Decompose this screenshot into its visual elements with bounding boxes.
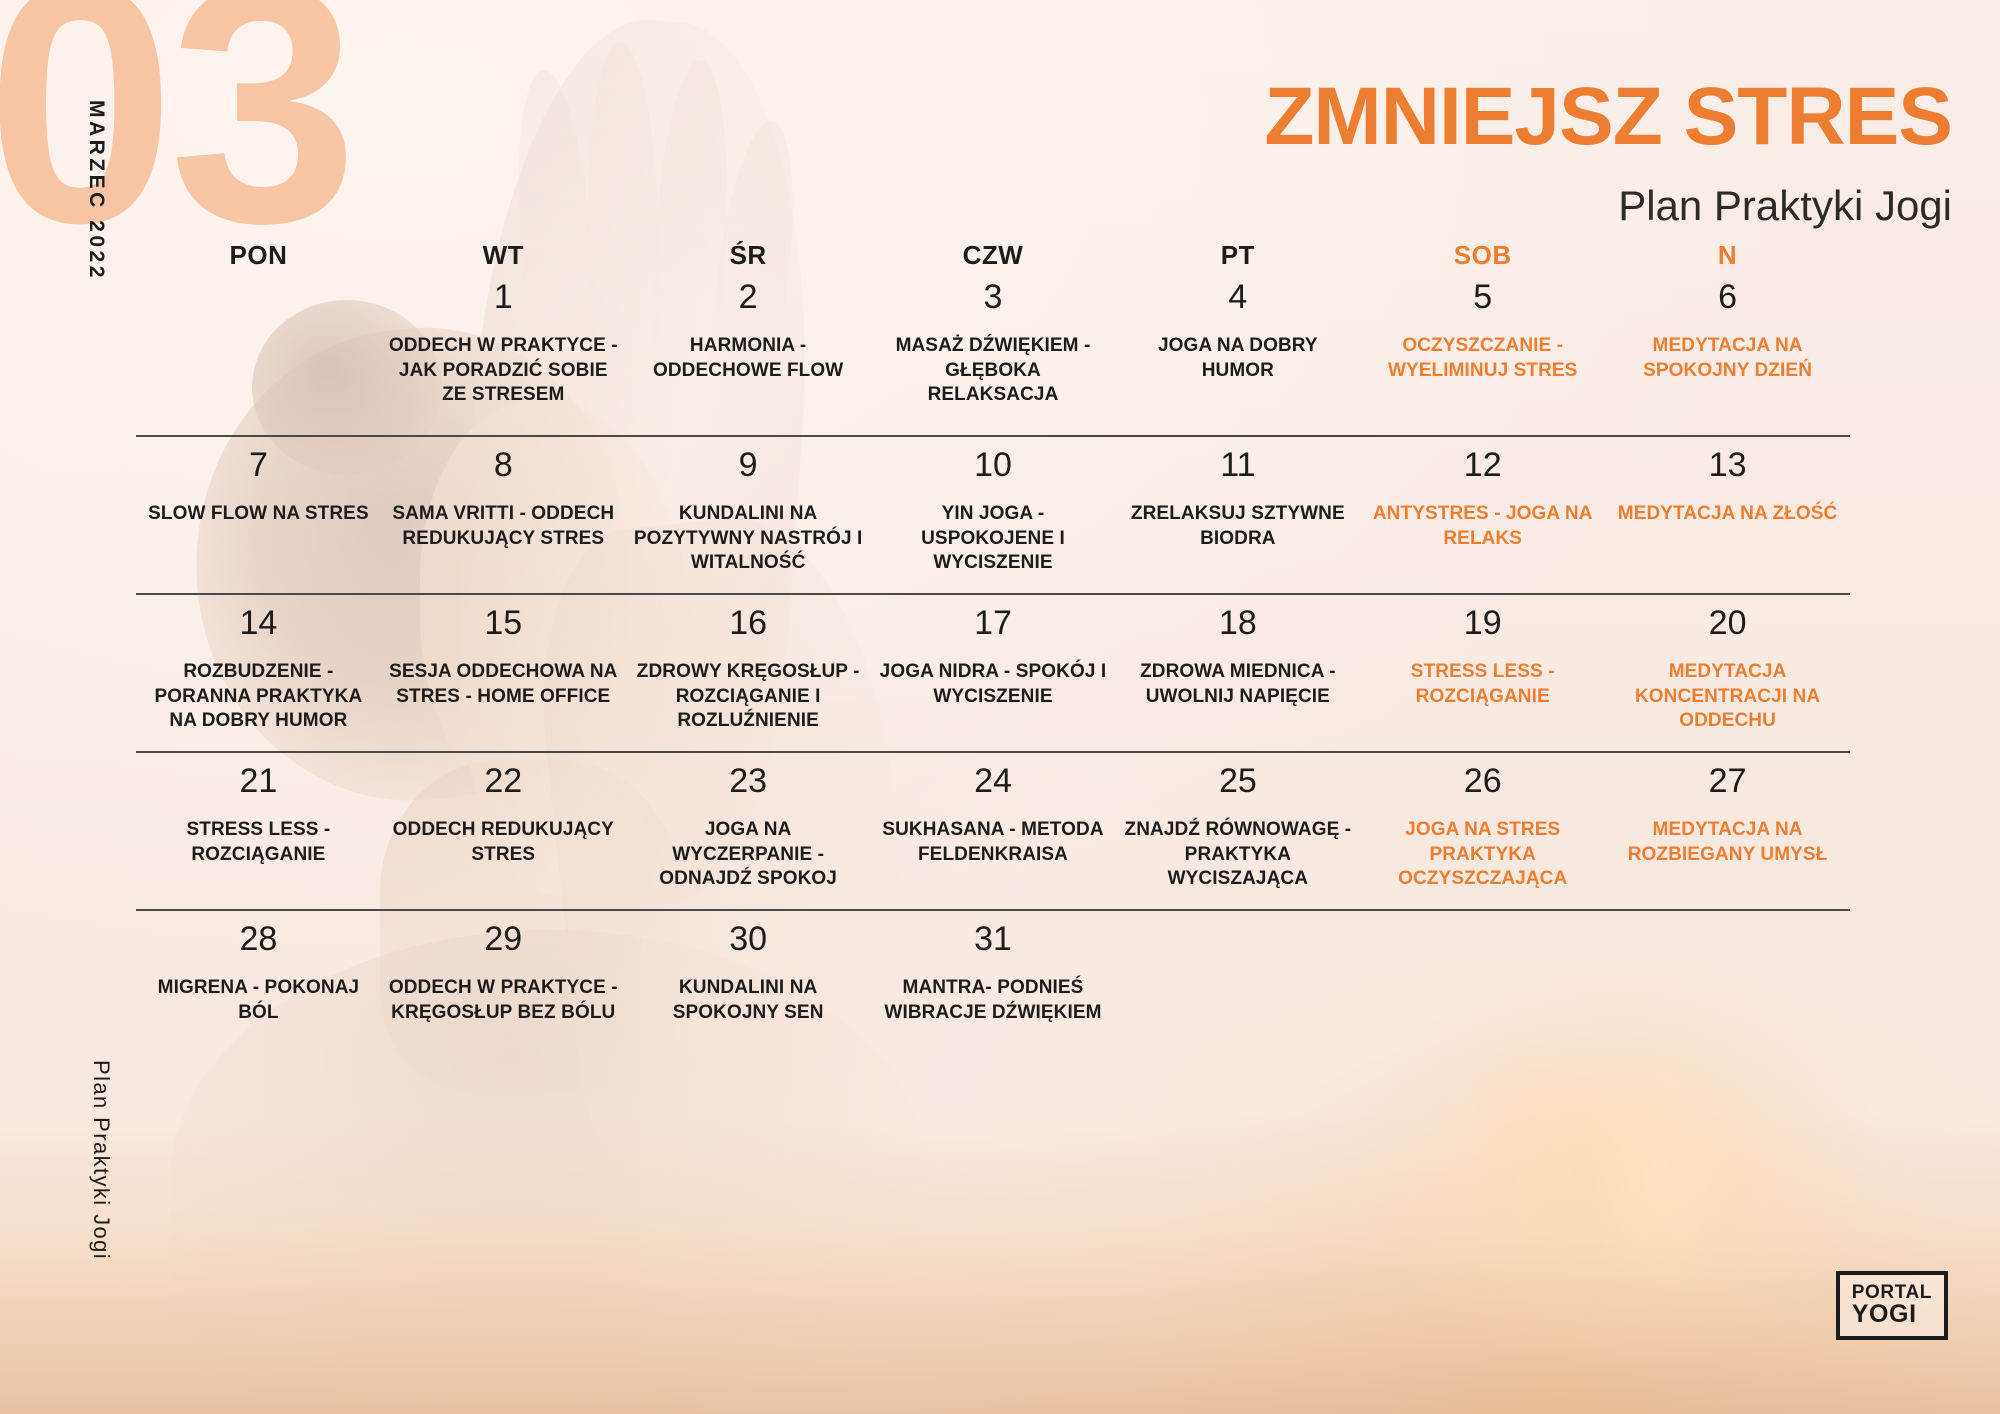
day-event-label: SLOW FLOW NA STRES [144, 502, 373, 526]
calendar-day-cell[interactable]: 30KUNDALINI NA SPOKOJNY SEN [626, 921, 871, 1055]
day-number: 9 [634, 447, 863, 484]
day-event-label: MASAŻ DŹWIĘKIEM - GŁĘBOKA RELAKSACJA [879, 334, 1108, 407]
side-plan-label: Plan Praktyki Jogi [88, 1060, 114, 1260]
calendar-day-cell[interactable]: 23JOGA NA WYCZERPANIE - ODNAJDŹ SPOKOJ [626, 763, 871, 897]
logo-line-2: YOGI [1852, 1302, 1932, 1327]
month-number: 03 [0, 0, 352, 274]
day-number: 26 [1368, 763, 1597, 800]
calendar-day-cell-empty [1115, 921, 1360, 1055]
calendar-day-cell[interactable]: 2HARMONIA - ODDECHOWE FLOW [626, 279, 871, 423]
day-number: 6 [1613, 279, 1842, 316]
day-number: 24 [879, 763, 1108, 800]
day-number: 3 [879, 279, 1108, 316]
page-subtitle: Plan Praktyki Jogi [1618, 182, 1952, 230]
day-event-label: ODDECH W PRAKTYCE - JAK PORADZIĆ SOBIE Z… [389, 334, 618, 407]
calendar-day-cell[interactable]: 8SAMA VRITTI - ODDECH REDUKUJĄCY STRES [381, 447, 626, 581]
calendar-poster: 03 MARZEC 2022 Plan Praktyki Jogi ZMNIEJ… [0, 0, 2000, 1414]
day-number: 19 [1368, 605, 1597, 642]
page-title: ZMNIEJSZ STRES [1264, 76, 1952, 158]
day-number: 16 [634, 605, 863, 642]
day-event-label: SAMA VRITTI - ODDECH REDUKUJĄCY STRES [389, 502, 618, 551]
calendar-day-cell[interactable]: 12ANTYSTRES - JOGA NA RELAKS [1360, 447, 1605, 581]
day-number: 11 [1123, 447, 1352, 484]
calendar-week-row: 21STRESS LESS - ROZCIĄGANIE22ODDECH REDU… [136, 751, 1850, 909]
calendar-day-cell[interactable]: 14ROZBUDZENIE - PORANNA PRAKTYKA NA DOBR… [136, 605, 381, 739]
day-number: 12 [1368, 447, 1597, 484]
calendar-day-cell[interactable]: 4JOGA NA DOBRY HUMOR [1115, 279, 1360, 423]
calendar-day-cell[interactable]: 9KUNDALINI NA POZYTYWNY NASTRÓJ I WITALN… [626, 447, 871, 581]
calendar-day-cell[interactable]: 16ZDROWY KRĘGOSŁUP - ROZCIĄGANIE I ROZLU… [626, 605, 871, 739]
calendar-day-cell[interactable]: 21STRESS LESS - ROZCIĄGANIE [136, 763, 381, 897]
day-number: 5 [1368, 279, 1597, 316]
day-event-label: MEDYTACJA NA ZŁOŚĆ [1613, 502, 1842, 526]
day-number: 30 [634, 921, 863, 958]
day-event-label: MEDYTACJA KONCENTRACJI NA ODDECHU [1613, 660, 1842, 733]
calendar-day-cell[interactable]: 11ZRELAKSUJ SZTYWNE BIODRA [1115, 447, 1360, 581]
day-event-label: ROZBUDZENIE - PORANNA PRAKTYKA NA DOBRY … [144, 660, 373, 733]
day-event-label: JOGA NA DOBRY HUMOR [1123, 334, 1352, 383]
calendar-day-cell[interactable]: 6MEDYTACJA NA SPOKOJNY DZIEŃ [1605, 279, 1850, 423]
day-of-week-śr: ŚR [626, 240, 871, 277]
day-number: 27 [1613, 763, 1842, 800]
day-number: 2 [634, 279, 863, 316]
calendar-day-cell[interactable]: 5OCZYSZCZANIE - WYELIMINUJ STRES [1360, 279, 1605, 423]
calendar-day-cell[interactable]: 29ODDECH W PRAKTYCE - KRĘGOSŁUP BEZ BÓLU [381, 921, 626, 1055]
day-event-label: MIGRENA - POKONAJ BÓL [144, 976, 373, 1025]
day-event-label: JOGA NIDRA - SPOKÓJ I WYCISZENIE [879, 660, 1108, 709]
calendar-day-cell[interactable]: 1ODDECH W PRAKTYCE - JAK PORADZIĆ SOBIE … [381, 279, 626, 423]
day-event-label: ZDROWA MIEDNICA - UWOLNIJ NAPIĘCIE [1123, 660, 1352, 709]
day-event-label: MEDYTACJA NA SPOKOJNY DZIEŃ [1613, 334, 1842, 383]
day-event-label: HARMONIA - ODDECHOWE FLOW [634, 334, 863, 383]
calendar-day-cell-empty [1605, 921, 1850, 1055]
calendar-weeks: 1ODDECH W PRAKTYCE - JAK PORADZIĆ SOBIE … [136, 277, 1850, 1067]
calendar-week-row: 7SLOW FLOW NA STRES8SAMA VRITTI - ODDECH… [136, 435, 1850, 593]
day-number: 8 [389, 447, 618, 484]
calendar-day-cell-empty [1360, 921, 1605, 1055]
day-event-label: ZRELAKSUJ SZTYWNE BIODRA [1123, 502, 1352, 551]
day-of-week-pon: PON [136, 240, 381, 277]
brand-logo: PORTAL YOGI [1836, 1271, 1948, 1340]
day-number: 13 [1613, 447, 1842, 484]
day-number: 23 [634, 763, 863, 800]
day-of-week-header-row: PONWTŚRCZWPTSOBN [136, 240, 1850, 277]
day-number: 28 [144, 921, 373, 958]
day-event-label: SUKHASANA - METODA FELDENKRAISA [879, 818, 1108, 867]
day-number: 18 [1123, 605, 1352, 642]
day-event-label: JOGA NA WYCZERPANIE - ODNAJDŹ SPOKOJ [634, 818, 863, 891]
day-number: 14 [144, 605, 373, 642]
month-year-label: MARZEC 2022 [84, 100, 108, 281]
day-number: 29 [389, 921, 618, 958]
calendar-grid: PONWTŚRCZWPTSOBN 1ODDECH W PRAKTYCE - JA… [136, 240, 1850, 1067]
calendar-day-cell[interactable]: 17JOGA NIDRA - SPOKÓJ I WYCISZENIE [871, 605, 1116, 739]
day-of-week-wt: WT [381, 240, 626, 277]
calendar-day-cell[interactable]: 10YIN JOGA - USPOKOJENE I WYCISZENIE [871, 447, 1116, 581]
day-number: 20 [1613, 605, 1842, 642]
day-of-week-czw: CZW [871, 240, 1116, 277]
day-number: 31 [879, 921, 1108, 958]
day-number: 22 [389, 763, 618, 800]
day-event-label: OCZYSZCZANIE - WYELIMINUJ STRES [1368, 334, 1597, 383]
calendar-day-cell-empty [136, 279, 381, 423]
day-number: 10 [879, 447, 1108, 484]
calendar-day-cell[interactable]: 22ODDECH REDUKUJĄCY STRES [381, 763, 626, 897]
day-number: 1 [389, 279, 618, 316]
calendar-day-cell[interactable]: 15SESJA ODDECHOWA NA STRES - HOME OFFICE [381, 605, 626, 739]
day-event-label: ANTYSTRES - JOGA NA RELAKS [1368, 502, 1597, 551]
day-event-label: MANTRA- PODNIEŚ WIBRACJE DŹWIĘKIEM [879, 976, 1108, 1025]
day-event-label: KUNDALINI NA SPOKOJNY SEN [634, 976, 863, 1025]
calendar-day-cell[interactable]: 26JOGA NA STRES PRAKTYKA OCZYSZCZAJĄCA [1360, 763, 1605, 897]
calendar-day-cell[interactable]: 20MEDYTACJA KONCENTRACJI NA ODDECHU [1605, 605, 1850, 739]
day-event-label: YIN JOGA - USPOKOJENE I WYCISZENIE [879, 502, 1108, 575]
day-number: 17 [879, 605, 1108, 642]
calendar-day-cell[interactable]: 28MIGRENA - POKONAJ BÓL [136, 921, 381, 1055]
calendar-day-cell[interactable]: 27MEDYTACJA NA ROZBIEGANY UMYSŁ [1605, 763, 1850, 897]
calendar-week-row: 28MIGRENA - POKONAJ BÓL29ODDECH W PRAKTY… [136, 909, 1850, 1067]
calendar-day-cell[interactable]: 24SUKHASANA - METODA FELDENKRAISA [871, 763, 1116, 897]
day-of-week-n: N [1605, 240, 1850, 277]
calendar-day-cell[interactable]: 25ZNAJDŹ RÓWNOWAGĘ - PRAKTYKA WYCISZAJĄC… [1115, 763, 1360, 897]
day-event-label: JOGA NA STRES PRAKTYKA OCZYSZCZAJĄCA [1368, 818, 1597, 891]
calendar-day-cell[interactable]: 7SLOW FLOW NA STRES [136, 447, 381, 581]
calendar-week-row: 1ODDECH W PRAKTYCE - JAK PORADZIĆ SOBIE … [136, 277, 1850, 435]
calendar-day-cell[interactable]: 3MASAŻ DŹWIĘKIEM - GŁĘBOKA RELAKSACJA [871, 279, 1116, 423]
day-event-label: ODDECH W PRAKTYCE - KRĘGOSŁUP BEZ BÓLU [389, 976, 618, 1025]
day-event-label: STRESS LESS - ROZCIĄGANIE [144, 818, 373, 867]
day-number: 4 [1123, 279, 1352, 316]
calendar-day-cell[interactable]: 19STRESS LESS - ROZCIĄGANIE [1360, 605, 1605, 739]
day-event-label: KUNDALINI NA POZYTYWNY NASTRÓJ I WITALNO… [634, 502, 863, 575]
day-of-week-pt: PT [1115, 240, 1360, 277]
day-event-label: STRESS LESS - ROZCIĄGANIE [1368, 660, 1597, 709]
calendar-week-row: 14ROZBUDZENIE - PORANNA PRAKTYKA NA DOBR… [136, 593, 1850, 751]
day-number: 7 [144, 447, 373, 484]
calendar-day-cell[interactable]: 18ZDROWA MIEDNICA - UWOLNIJ NAPIĘCIE [1115, 605, 1360, 739]
day-event-label: ZNAJDŹ RÓWNOWAGĘ - PRAKTYKA WYCISZAJĄCA [1123, 818, 1352, 891]
day-event-label: MEDYTACJA NA ROZBIEGANY UMYSŁ [1613, 818, 1842, 867]
day-event-label: SESJA ODDECHOWA NA STRES - HOME OFFICE [389, 660, 618, 709]
day-event-label: ODDECH REDUKUJĄCY STRES [389, 818, 618, 867]
calendar-day-cell[interactable]: 31MANTRA- PODNIEŚ WIBRACJE DŹWIĘKIEM [871, 921, 1116, 1055]
calendar-day-cell[interactable]: 13MEDYTACJA NA ZŁOŚĆ [1605, 447, 1850, 581]
day-event-label: ZDROWY KRĘGOSŁUP - ROZCIĄGANIE I ROZLUŹN… [634, 660, 863, 733]
day-of-week-sob: SOB [1360, 240, 1605, 277]
day-number: 25 [1123, 763, 1352, 800]
day-number: 21 [144, 763, 373, 800]
day-number: 15 [389, 605, 618, 642]
